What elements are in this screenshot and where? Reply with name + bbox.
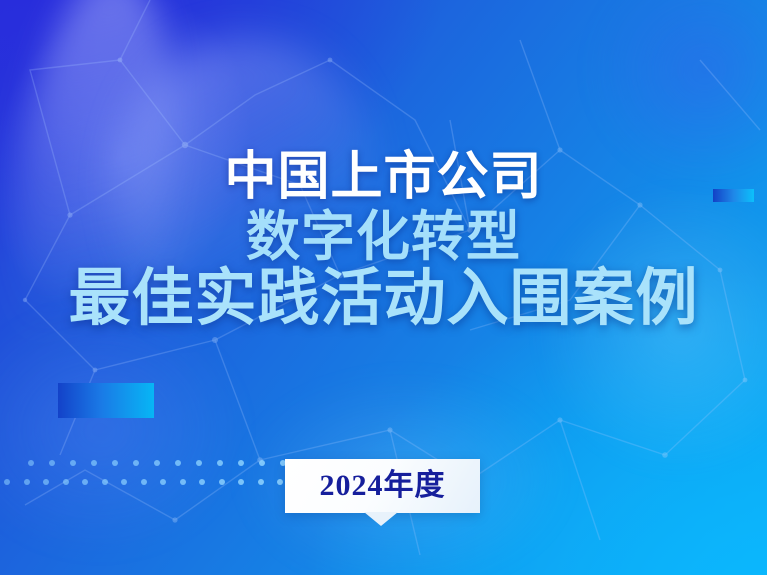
dot <box>259 460 265 466</box>
dot <box>277 479 283 485</box>
dot <box>238 460 244 466</box>
dot <box>217 460 223 466</box>
dot <box>258 479 264 485</box>
dot <box>196 460 202 466</box>
dot <box>141 479 147 485</box>
title-line-3: 最佳实践活动入围案例 <box>0 268 767 330</box>
accent-bar-left <box>58 383 154 418</box>
dot <box>28 460 34 466</box>
dot <box>102 479 108 485</box>
page-title: 中国上市公司 数字化转型 最佳实践活动入围案例 <box>0 152 767 330</box>
dot <box>219 479 225 485</box>
dot <box>82 479 88 485</box>
year-badge-tail <box>364 512 398 526</box>
year-badge-label: 2024年度 <box>320 471 446 501</box>
dot <box>199 479 205 485</box>
dotted-row-top <box>28 460 280 466</box>
dot <box>24 479 30 485</box>
dot <box>154 460 160 466</box>
title-line-1: 中国上市公司 <box>0 152 767 204</box>
dot <box>91 460 97 466</box>
dot <box>160 479 166 485</box>
dot <box>4 479 10 485</box>
dot <box>43 479 49 485</box>
title-slide: 中国上市公司 数字化转型 最佳实践活动入围案例 2024年度 <box>0 0 767 575</box>
year-badge: 2024年度 <box>285 459 480 513</box>
dot <box>175 460 181 466</box>
dotted-row-bottom <box>4 479 280 485</box>
dot <box>49 460 55 466</box>
dot <box>70 460 76 466</box>
dot <box>133 460 139 466</box>
dot <box>238 479 244 485</box>
dot <box>180 479 186 485</box>
title-line-2: 数字化转型 <box>0 210 767 264</box>
dot <box>63 479 69 485</box>
dot <box>121 479 127 485</box>
dot <box>112 460 118 466</box>
